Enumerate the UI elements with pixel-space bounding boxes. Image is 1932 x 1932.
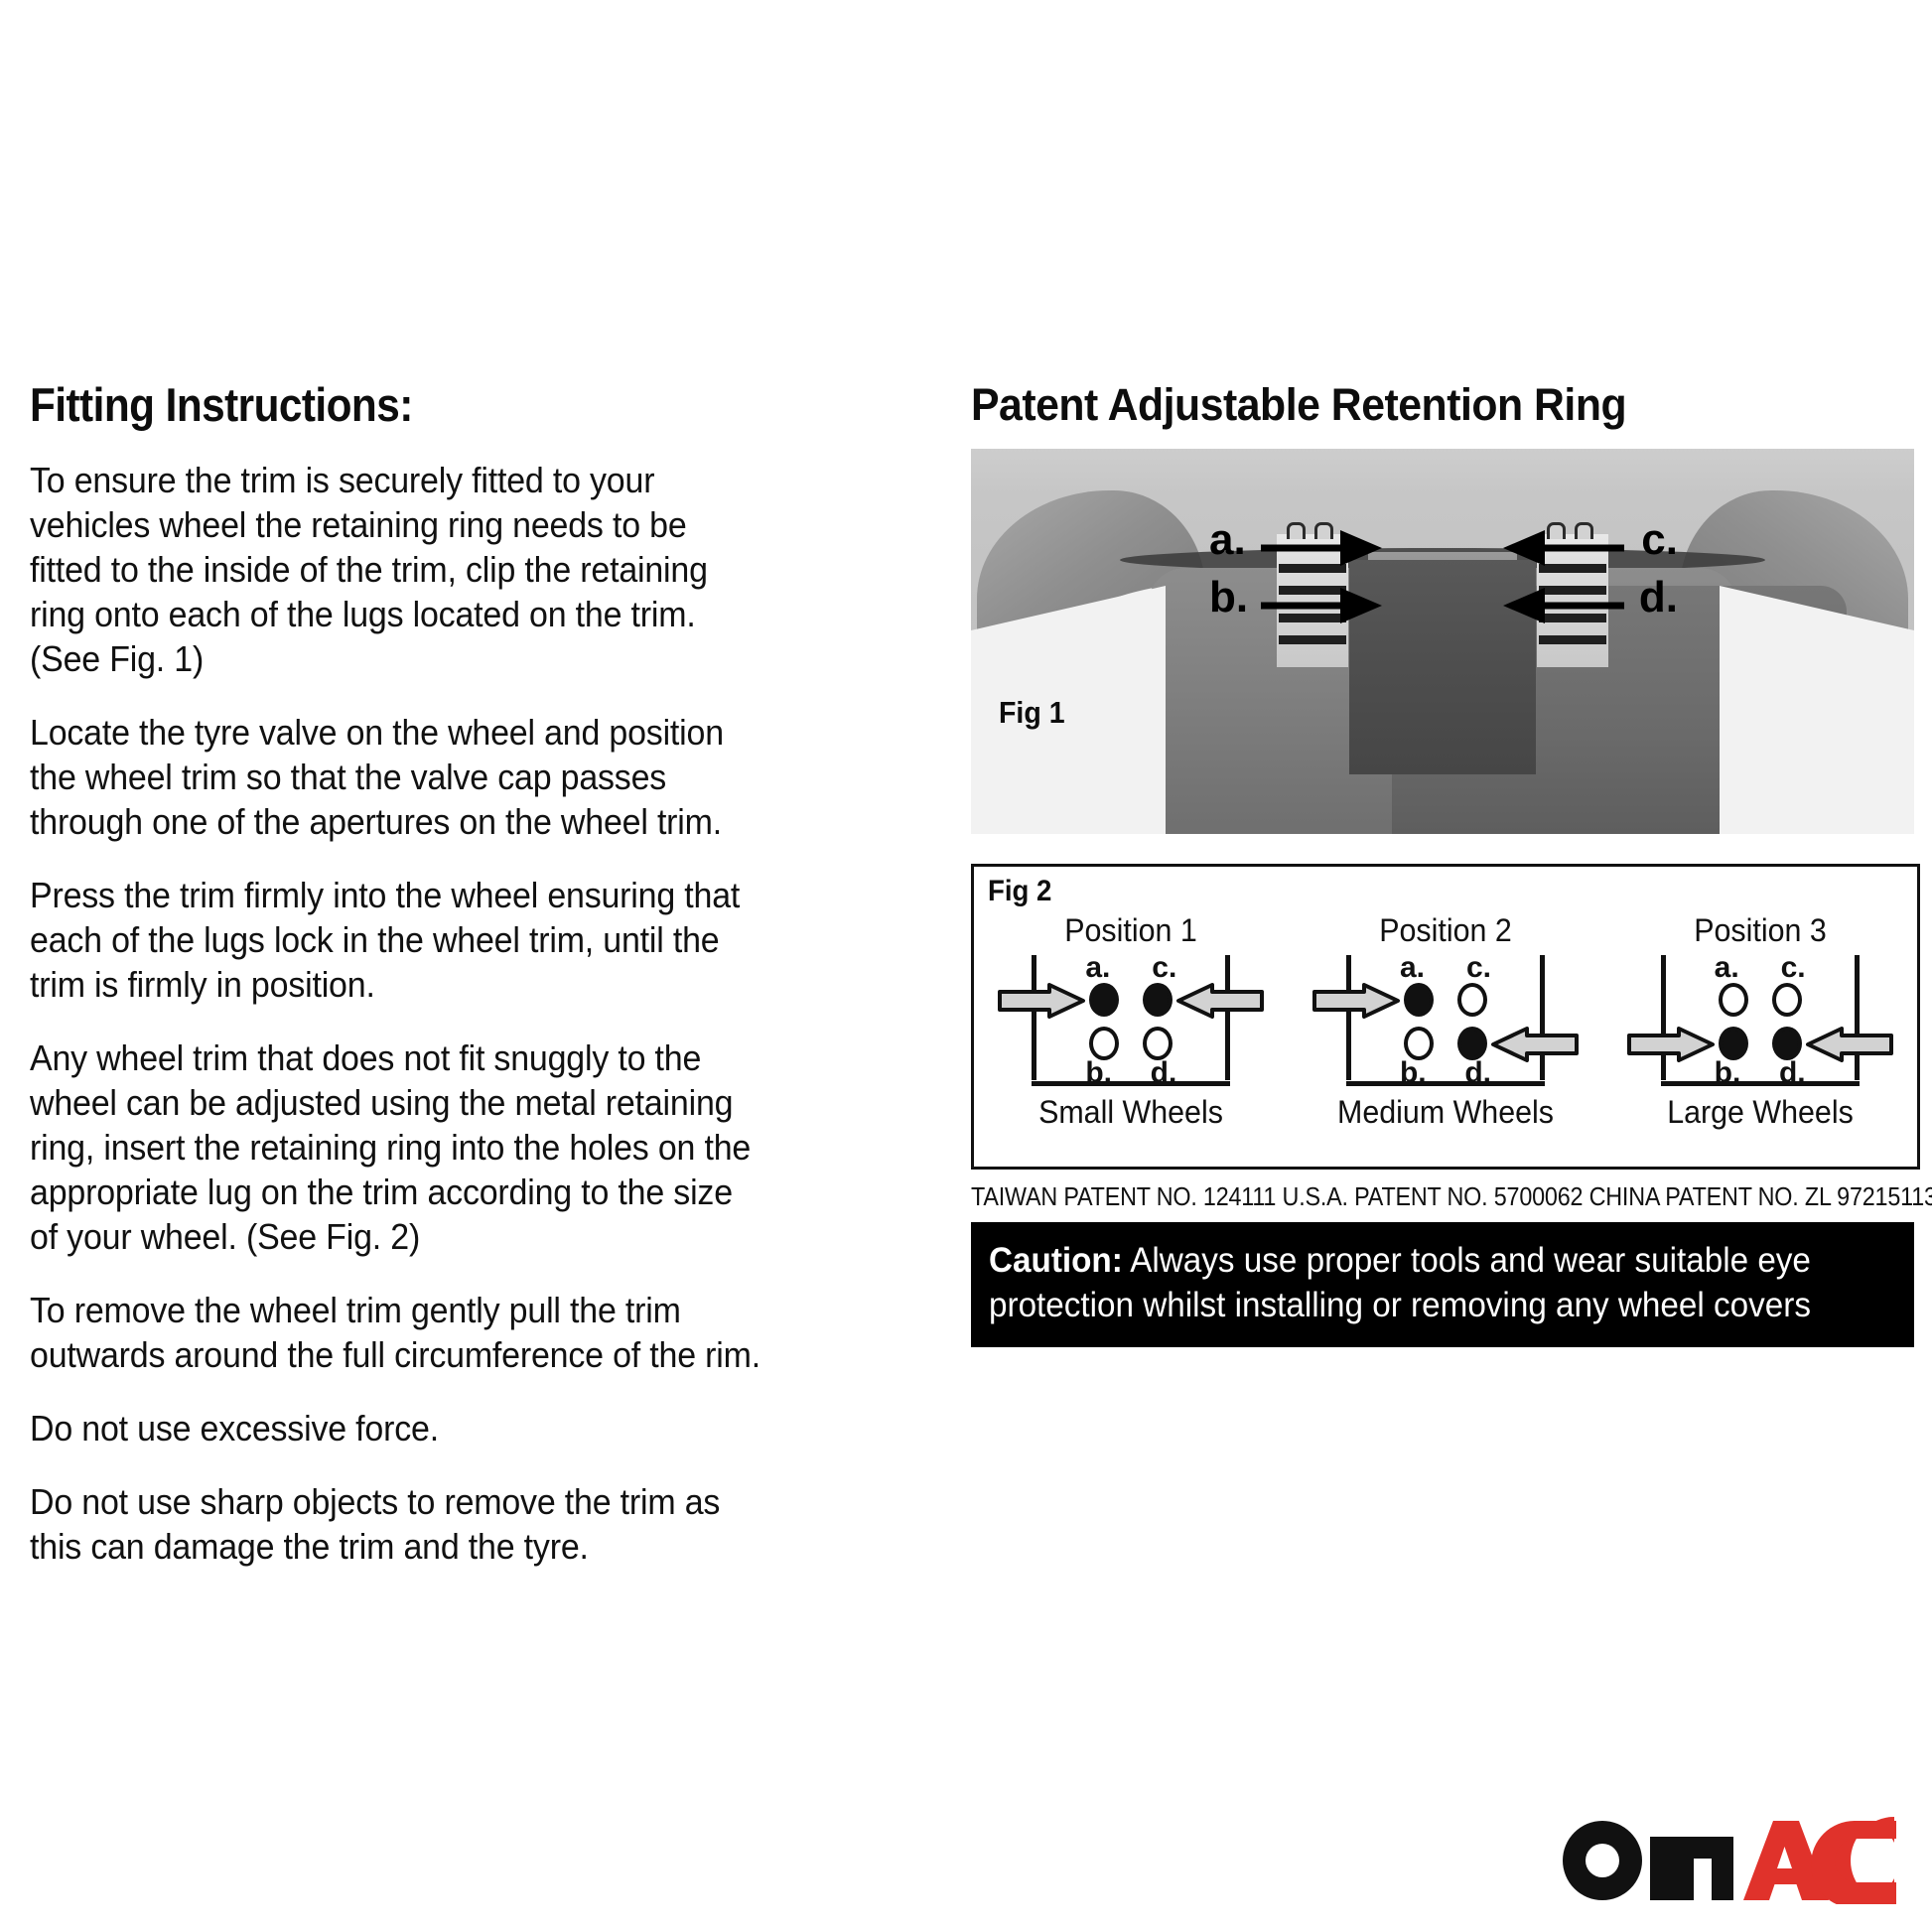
position-block-1: Position 1 a. b. (987, 912, 1275, 1131)
caution-keyword: Caution: (989, 1241, 1123, 1280)
instruction-paragraph: Any wheel trim that does not fit snuggly… (30, 1035, 763, 1259)
insert-arrow-right-icon (1174, 983, 1264, 1019)
bracket-bottom (1661, 1081, 1860, 1086)
fig1-callout-d: d. (1639, 576, 1678, 620)
insert-arrow-left-icon (1627, 1027, 1717, 1062)
clip-slot (1279, 635, 1346, 644)
hole-c (1143, 983, 1173, 1017)
hole-a (1719, 983, 1748, 1017)
position-diagram: a. b. c. d. (1635, 955, 1885, 1086)
hole-label-c: c. (1466, 953, 1491, 983)
instruction-paragraph: Do not use sharp objects to remove the t… (30, 1479, 763, 1569)
caution-text: Caution: Always use proper tools and wea… (989, 1238, 1908, 1327)
position-title: Position 2 (1309, 912, 1583, 949)
hole-b (1089, 1027, 1119, 1060)
hole-label-b: b. (1400, 1058, 1427, 1088)
fig1-callout-b: b. (1209, 576, 1248, 620)
fig1-photo-panel: a. b. c. d. Fig 1 (971, 449, 1914, 834)
position-title: Position 1 (995, 912, 1269, 949)
fig1-callout-a: a. (1209, 518, 1246, 562)
hole-label-a: a. (1715, 953, 1739, 983)
position-block-3: Position 3 a. b. (1616, 912, 1904, 1131)
clip-slot (1539, 635, 1606, 644)
insert-arrow-left-icon (1312, 983, 1402, 1019)
callout-arrow-c-icon (1500, 526, 1624, 570)
fig2-positions-row: Position 1 a. b. (974, 912, 1917, 1131)
page-title: Fitting Instructions: (30, 377, 691, 432)
position-caption: Medium Wheels (1309, 1094, 1583, 1131)
instruction-paragraph: Locate the tyre valve on the wheel and p… (30, 710, 763, 844)
hole-label-c: c. (1781, 953, 1806, 983)
position-diagram: a. b. c. d. (1320, 955, 1571, 1086)
bracket-bottom (1032, 1081, 1230, 1086)
hole-label-b: b. (1085, 1058, 1112, 1088)
position-diagram: a. b. c. d. (1006, 955, 1256, 1086)
fig2-label: Fig 2 (988, 875, 1051, 908)
insert-arrow-right-icon (1804, 1027, 1893, 1062)
hole-c (1457, 983, 1487, 1017)
hole-label-c: c. (1152, 953, 1176, 983)
fitting-instructions-column: Fitting Instructions: To ensure the trim… (30, 377, 764, 1569)
hole-label-d: d. (1779, 1058, 1806, 1088)
callout-arrow-b-icon (1261, 584, 1385, 627)
hole-label-d: d. (1464, 1058, 1491, 1088)
omac-logo-icon (1559, 1809, 1896, 1904)
omac-logo (1559, 1809, 1896, 1904)
position-caption: Large Wheels (1623, 1094, 1897, 1131)
hole-label-a: a. (1085, 953, 1110, 983)
hole-a (1089, 983, 1119, 1017)
position-caption: Small Wheels (995, 1094, 1269, 1131)
hole-c (1772, 983, 1802, 1017)
hole-d (1143, 1027, 1173, 1060)
patent-numbers: TAIWAN PATENT NO. 124111 U.S.A. PATENT N… (971, 1183, 1851, 1212)
retention-ring-column: Patent Adjustable Retention Ring (971, 379, 1932, 1347)
insert-arrow-right-icon (1489, 1027, 1579, 1062)
hole-label-a: a. (1400, 953, 1425, 983)
hole-d (1772, 1027, 1802, 1060)
hole-a (1404, 983, 1434, 1017)
instruction-paragraph: Press the trim firmly into the wheel ens… (30, 873, 763, 1007)
hole-label-d: d. (1151, 1058, 1177, 1088)
bracket-bottom (1346, 1081, 1545, 1086)
hole-d (1457, 1027, 1487, 1060)
callout-arrow-a-icon (1261, 526, 1385, 570)
callout-arrow-d-icon (1500, 584, 1624, 627)
hole-b (1719, 1027, 1748, 1060)
instruction-paragraph: To ensure the trim is securely fitted to… (30, 458, 763, 681)
position-block-2: Position 2 a. b. (1302, 912, 1589, 1131)
fig1-callout-c: c. (1641, 518, 1678, 562)
fig1-label: Fig 1 (999, 695, 1065, 731)
insert-arrow-left-icon (998, 983, 1087, 1019)
instruction-paragraph: Do not use excessive force. (30, 1406, 763, 1450)
hole-b (1404, 1027, 1434, 1060)
instruction-paragraph: To remove the wheel trim gently pull the… (30, 1288, 763, 1377)
fig2-diagram-panel: Fig 2 Position 1 (971, 864, 1920, 1170)
position-title: Position 3 (1623, 912, 1897, 949)
caution-box: Caution: Always use proper tools and wea… (971, 1222, 1914, 1347)
retention-ring-title: Patent Adjustable Retention Ring (971, 379, 1884, 431)
fig1-illustration: a. b. c. d. Fig 1 (971, 449, 1914, 834)
hole-label-b: b. (1715, 1058, 1741, 1088)
